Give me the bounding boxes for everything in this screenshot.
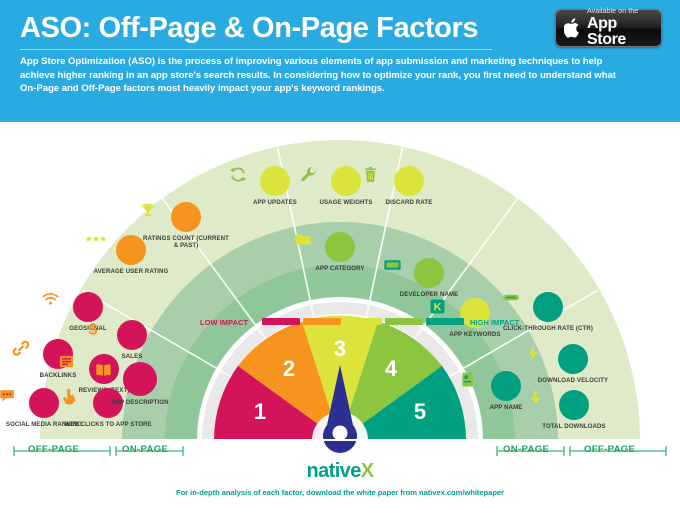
lightning-bolt-icon: [558, 344, 588, 374]
gauge-number-5: 5: [414, 399, 426, 424]
legend-swatch-1: [262, 318, 300, 325]
gauge-stage: 1 2 3 4 5: [0, 122, 680, 513]
factor-label: DISCARD RATE: [363, 199, 455, 206]
legend-swatch-3: [344, 318, 382, 325]
svg-text:K: K: [434, 301, 442, 313]
app-store-badge-text: Available on the App Store: [587, 8, 655, 48]
factor-label: WEB CLICKS TO APP STORE: [62, 421, 154, 428]
badge-store-label: App Store: [587, 16, 655, 48]
gauge-baseline: [40, 439, 640, 441]
impact-legend: LOW IMPACT HIGH IMPACT: [0, 314, 680, 330]
legend-high-label: HIGH IMPACT: [470, 318, 519, 327]
factor-app-category[interactable]: APP CATEGORY: [294, 232, 386, 272]
bracket-label-off-page-left: OFF-PAGE: [28, 444, 79, 455]
factor-label: RATINGS COUNT (CURRENT & PAST): [140, 235, 232, 249]
header-subtitle: App Store Optimization (ASO) is the proc…: [20, 55, 632, 96]
factor-developer-name[interactable]: DEVELOPER NAME: [383, 258, 475, 298]
factor-app-description[interactable]: APP DESCRIPTION: [94, 362, 186, 406]
factor-discard-rate[interactable]: DISCARD RATE: [363, 166, 455, 206]
trash-can-icon: [394, 166, 424, 196]
name-field-icon: [414, 258, 444, 288]
nativex-logo: nativeX: [0, 460, 680, 483]
logo-x-mark: X: [361, 460, 374, 482]
app-store-badge[interactable]: Available on the App Store: [555, 9, 662, 47]
refresh-arrows-icon: [260, 166, 290, 196]
factor-label: APP CATEGORY: [294, 265, 386, 272]
footer-note: For in-depth analysis of each factor, do…: [0, 488, 680, 497]
factor-label: AVERAGE USER RATING: [85, 268, 177, 275]
badge-available-label: Available on the: [587, 8, 655, 15]
folder-icon: [325, 232, 355, 262]
legend-swatch-2: [303, 318, 341, 325]
wrench-icon: [331, 166, 361, 196]
legend-swatch-4: [385, 318, 423, 325]
factor-total-downloads[interactable]: TOTAL DOWNLOADS: [528, 390, 620, 430]
app-tag-icon: [491, 371, 521, 401]
gauge-number-4: 4: [385, 356, 398, 381]
factor-label: APP DESCRIPTION: [94, 399, 186, 406]
factor-label: TOTAL DOWNLOADS: [528, 423, 620, 430]
bracket-label-off-page-right: OFF-PAGE: [584, 444, 635, 455]
download-arrow-icon: [559, 390, 589, 420]
title-divider: [20, 49, 492, 50]
gauge-needle-cap: [333, 426, 348, 441]
factor-download-velocity[interactable]: DOWNLOAD VELOCITY: [527, 344, 619, 384]
legend-low-label: LOW IMPACT: [200, 318, 248, 327]
legend-swatch-5: [426, 318, 464, 325]
logo-word: native: [307, 460, 361, 482]
trophy-icon: [171, 202, 201, 232]
header-banner: ASO: Off-Page & On-Page Factors App Stor…: [0, 0, 680, 122]
factor-label: DOWNLOAD VELOCITY: [527, 377, 619, 384]
bracket-label-on-page-left: ON-PAGE: [122, 444, 168, 455]
apple-icon: [562, 15, 584, 41]
infographic-root: ASO: Off-Page & On-Page Factors App Stor…: [0, 0, 680, 513]
gauge-number-3: 3: [334, 336, 346, 361]
open-book-icon: [123, 362, 157, 396]
chat-bubble-icon: [29, 388, 59, 418]
gauge-number-1: 1: [254, 399, 266, 424]
bracket-label-on-page-right: ON-PAGE: [503, 444, 549, 455]
gauge-number-2: 2: [283, 356, 295, 381]
factor-ratings-count[interactable]: RATINGS COUNT (CURRENT & PAST): [140, 202, 232, 249]
